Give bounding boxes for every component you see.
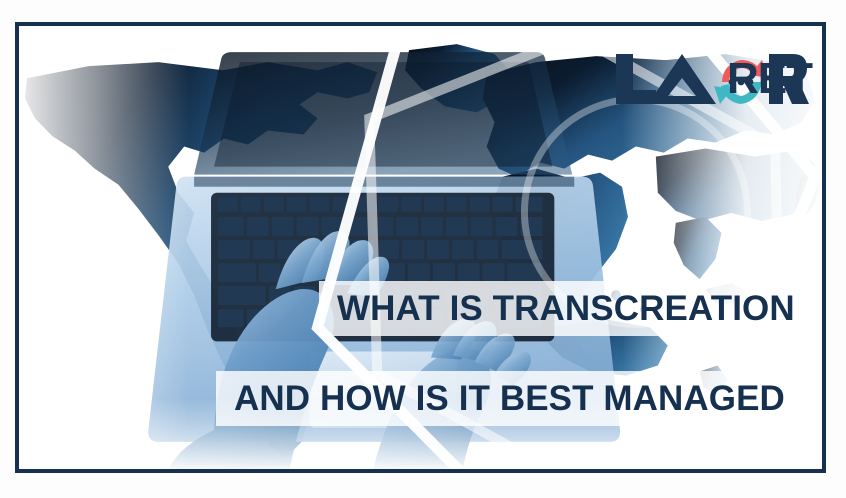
refresh-arrows-icon [714, 60, 768, 104]
headline-band-line-2: AND HOW IS IT BEST MANAGED [216, 371, 822, 426]
lagret-logo[interactable] [612, 48, 812, 110]
headline-line-1: WHAT IS TRANSCREATION [337, 291, 795, 326]
dots-icon [729, 79, 754, 86]
headline-band-line-1: WHAT IS TRANSCREATION [319, 281, 822, 336]
headline-line-2: AND HOW IS IT BEST MANAGED [234, 381, 785, 416]
banner-root: RET WHAT IS TRANSCREATION AND HOW IS IT … [0, 0, 846, 498]
banner-frame: RET WHAT IS TRANSCREATION AND HOW IS IT … [15, 22, 826, 473]
